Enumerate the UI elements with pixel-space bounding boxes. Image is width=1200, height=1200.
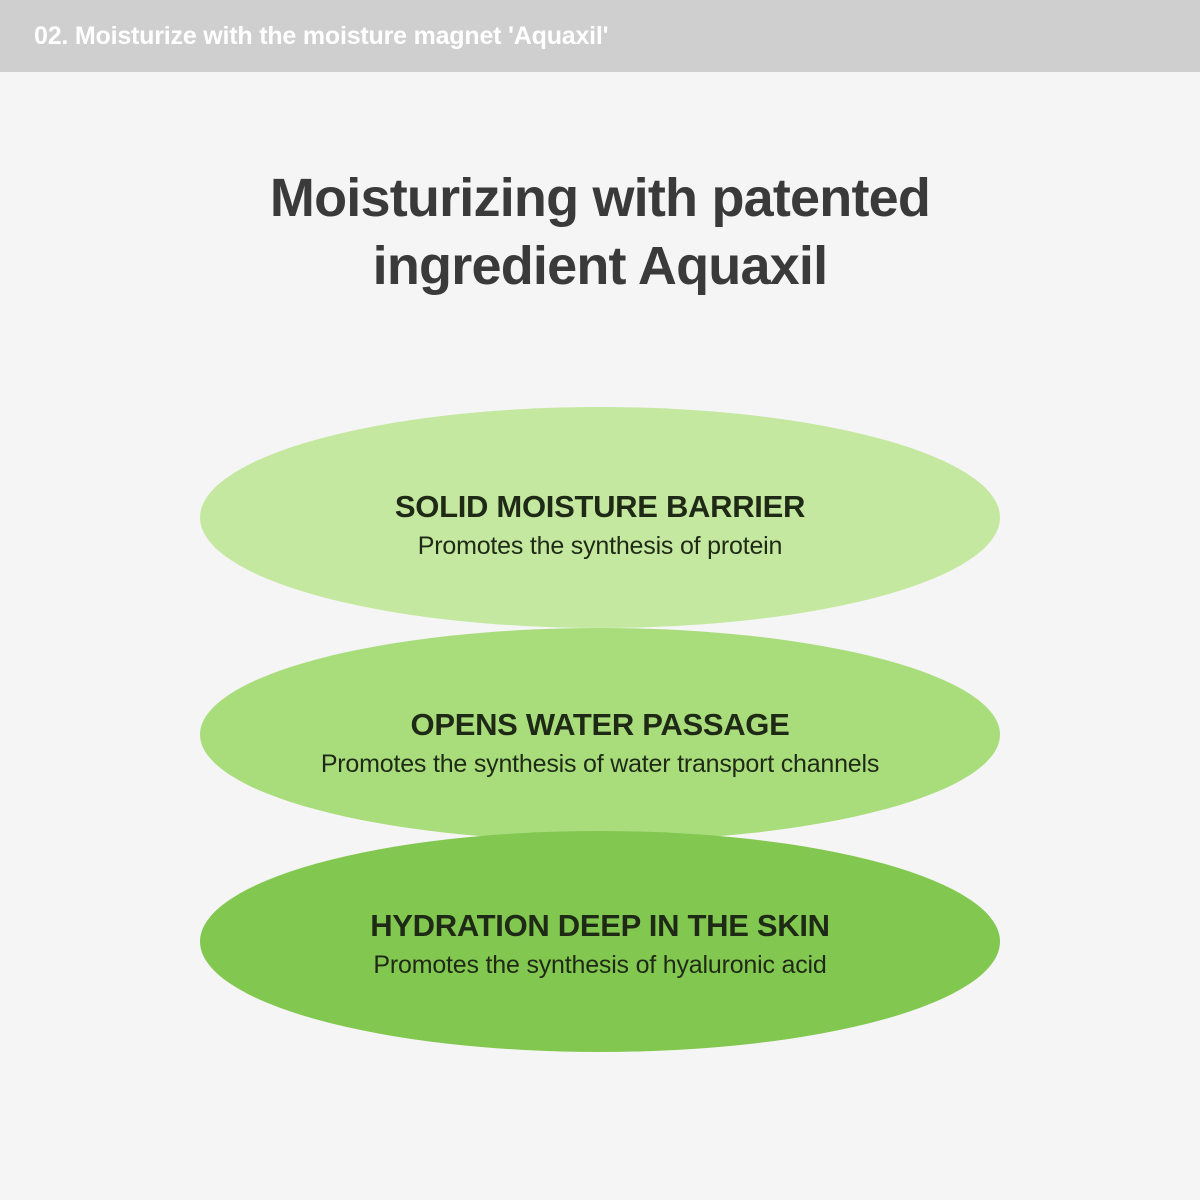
section-header-bar: 02. Moisturize with the moisture magnet …: [0, 0, 1200, 72]
benefit-heading: SOLID MOISTURE BARRIER: [395, 490, 805, 524]
page-title-line-1: Moisturizing with patented: [0, 164, 1200, 232]
benefit-heading: HYDRATION DEEP IN THE SKIN: [370, 909, 830, 943]
benefit-ellipse-hydration-deep-in-the-skin: HYDRATION DEEP IN THE SKIN Promotes the …: [200, 831, 1000, 1052]
benefit-ellipse-stack: SOLID MOISTURE BARRIER Promotes the synt…: [200, 407, 1000, 1052]
benefit-heading: OPENS WATER PASSAGE: [411, 708, 790, 742]
benefit-ellipse-opens-water-passage: OPENS WATER PASSAGE Promotes the synthes…: [200, 628, 1000, 841]
benefit-subtitle: Promotes the synthesis of water transpor…: [321, 749, 879, 780]
benefit-subtitle: Promotes the synthesis of protein: [418, 531, 782, 562]
page-title-line-2: ingredient Aquaxil: [0, 232, 1200, 300]
page-title: Moisturizing with patented ingredient Aq…: [0, 164, 1200, 300]
section-header-label: 02. Moisturize with the moisture magnet …: [34, 24, 608, 49]
benefit-subtitle: Promotes the synthesis of hyaluronic aci…: [373, 950, 826, 981]
benefit-ellipse-solid-moisture-barrier: SOLID MOISTURE BARRIER Promotes the synt…: [200, 407, 1000, 628]
